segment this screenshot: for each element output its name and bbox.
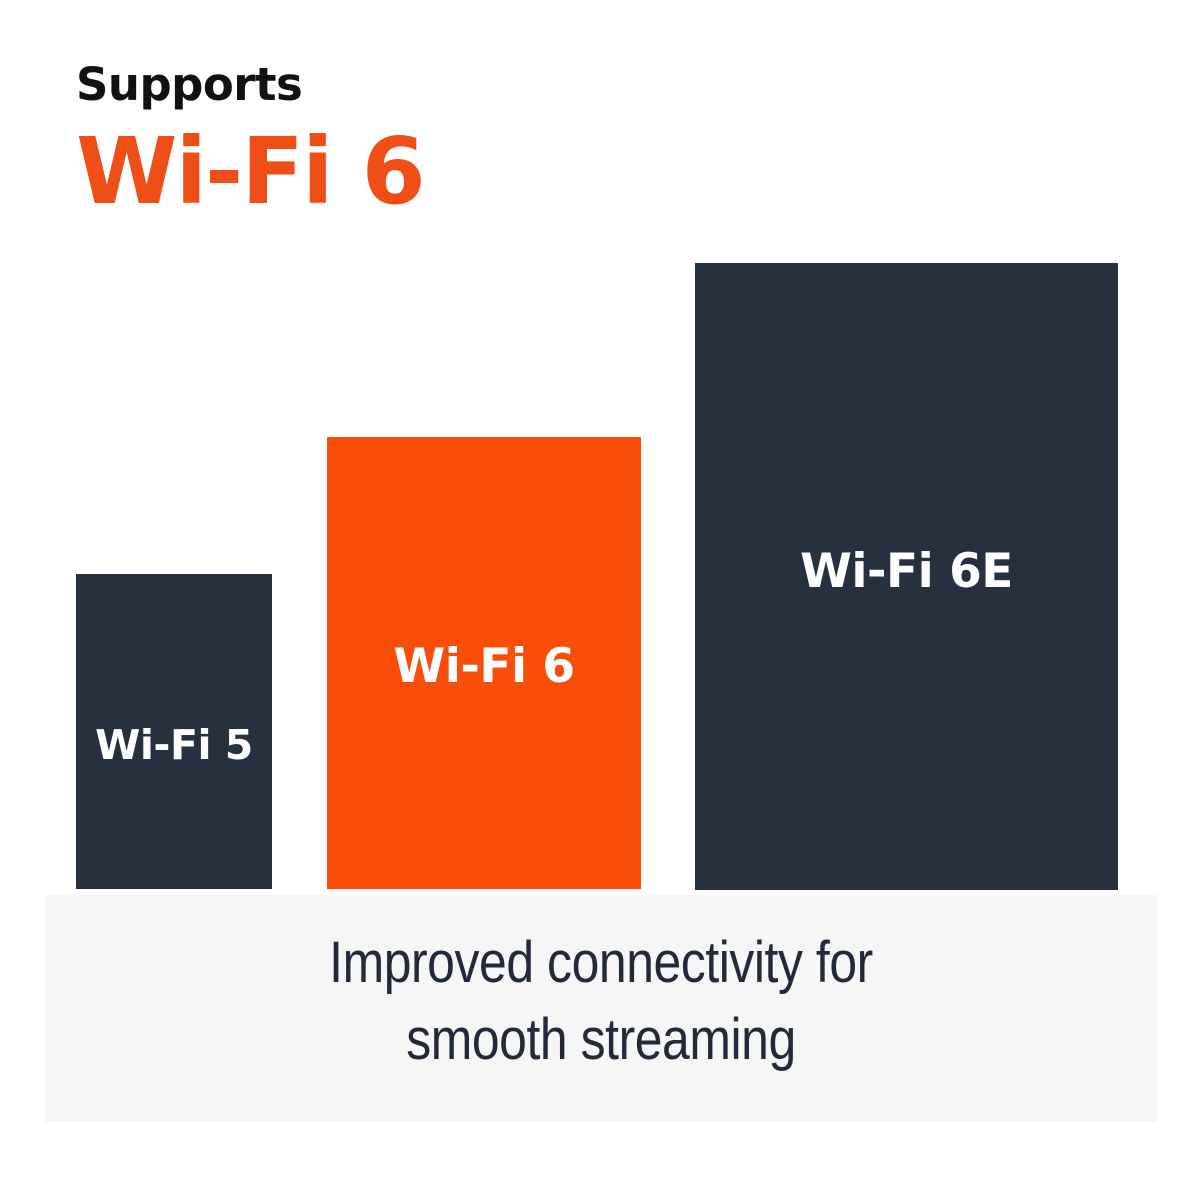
infographic-page: Supports Wi-Fi 6 Wi-Fi 5 Wi-Fi 6 <box>0 0 1200 1200</box>
caption-line-2: smooth streaming <box>123 1002 1079 1079</box>
bar-wifi-6 <box>327 437 641 889</box>
bar-wifi-6e <box>695 263 1118 890</box>
caption-panel: Improved connectivity for smooth streami… <box>45 895 1157 1122</box>
caption-text: Improved connectivity for smooth streami… <box>123 925 1079 1078</box>
bar-wifi-5 <box>76 574 272 889</box>
wifi-comparison-bar-chart: Wi-Fi 5 Wi-Fi 6 Wi-Fi 6E <box>0 0 1200 900</box>
caption-line-1: Improved connectivity for <box>123 925 1079 1002</box>
